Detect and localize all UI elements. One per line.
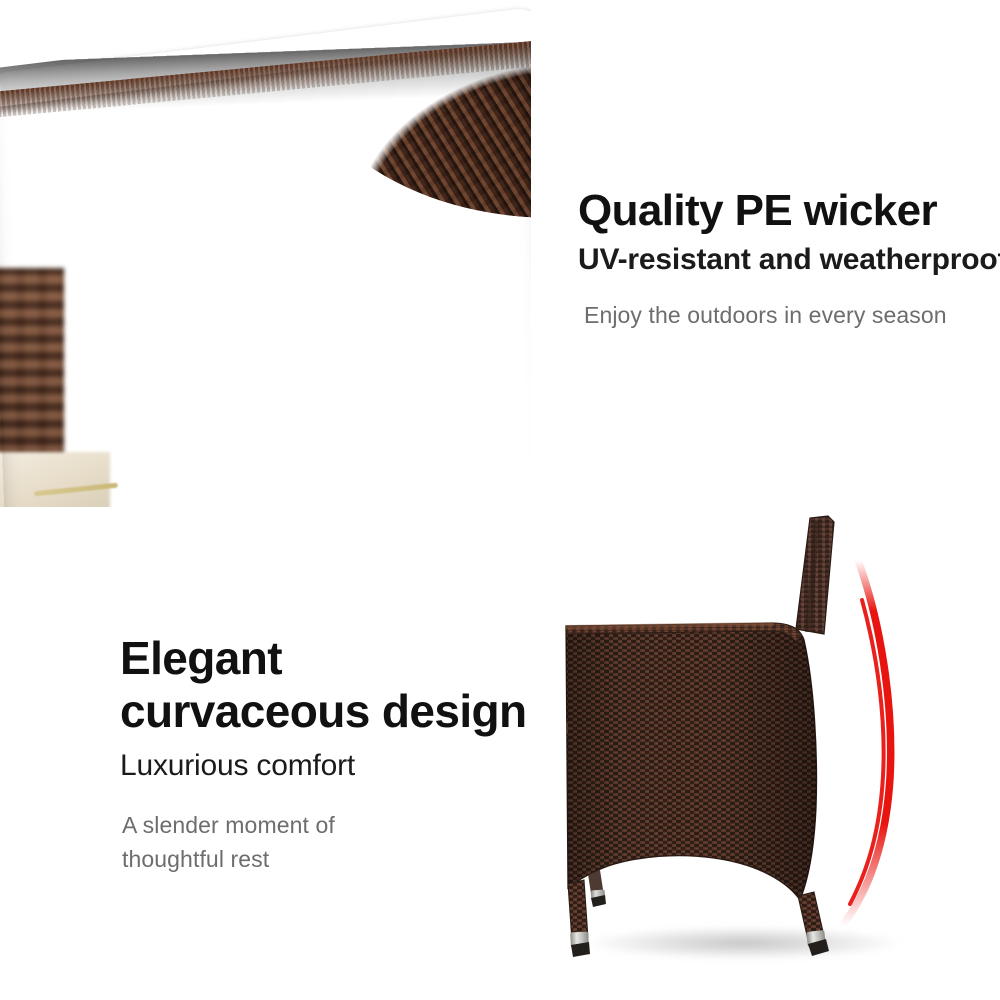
chair-body-shading [566,624,817,900]
feature-top-heading: Quality PE wicker [578,188,978,234]
chair-profile-photo [528,508,1000,1000]
chair-profile-illustration [528,508,1000,1000]
feature-bottom-heading: Elegant curvaceous design [120,632,540,739]
feature-bottom-body: A slender moment of thoughtful rest [122,809,540,876]
feature-bottom-heading-line2: curvaceous design [120,685,527,737]
feature-top-body: Enjoy the outdoors in every season [584,299,978,332]
wicker-closeup-photo [0,0,531,507]
feature-bottom-heading-line1: Elegant [120,632,282,684]
wicker-weave-panel [0,42,531,507]
feature-bottom-body-line2: thoughtful rest [122,846,269,872]
feature-top-text-block: Quality PE wicker UV-resistant and weath… [578,188,978,333]
feature-bottom-body-line1: A slender moment of [122,812,335,838]
product-feature-page: Quality PE wicker UV-resistant and weath… [0,0,1000,1000]
feature-top-subheading: UV-resistant and weatherproof [578,243,978,278]
feature-bottom-subheading: Luxurious comfort [120,749,540,784]
feature-bottom-text-block: Elegant curvaceous design Luxurious comf… [120,632,540,876]
